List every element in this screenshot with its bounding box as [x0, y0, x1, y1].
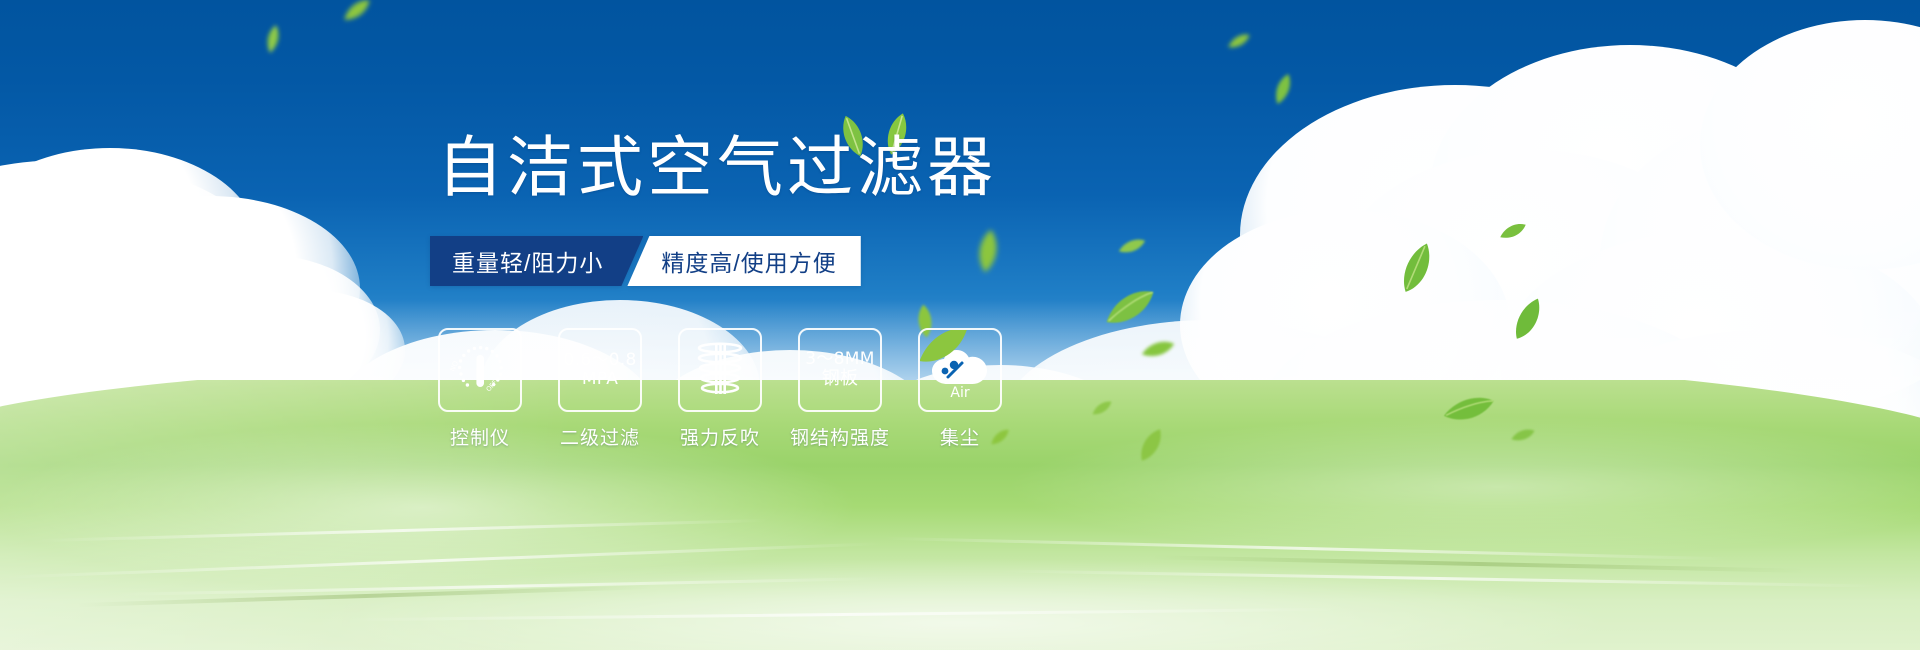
feature-item-steel-strength[interactable]: 3～8MM 钢板 钢结构强度	[798, 328, 882, 450]
svg-text:NO: NO	[449, 359, 461, 373]
subtitle-tabs: 重量轻/阻力小 精度高/使用方便	[430, 236, 861, 286]
pressure-value-line2: MPA	[582, 370, 618, 389]
feature-item-controller[interactable]: NO OFF 控制仪	[438, 328, 522, 450]
subtitle-tab-left[interactable]: 重量轻/阻力小	[430, 236, 643, 286]
blowback-coil-icon	[691, 339, 749, 401]
feature-icon-box: 0.6～0.8 MPA	[558, 328, 642, 412]
air-label: Air	[920, 385, 1000, 401]
feature-item-blowback[interactable]: 强力反吹	[678, 328, 762, 450]
feature-caption: 钢结构强度	[790, 423, 890, 450]
pressure-value-line1: 0.6～0.8	[563, 351, 636, 370]
control-dial-icon: NO OFF	[448, 340, 512, 400]
page-title: 自洁式空气过滤器	[437, 135, 997, 201]
steel-value-line2: 钢板	[822, 369, 859, 389]
feature-icon-box: Air	[918, 328, 1002, 412]
feature-list: NO OFF 控制仪 0.6～0.8 MPA 二级过滤	[438, 328, 1002, 450]
feature-item-two-stage-filter[interactable]: 0.6～0.8 MPA 二级过滤	[558, 328, 642, 450]
feature-caption: 强力反吹	[680, 423, 760, 450]
feature-icon-box: 3～8MM 钢板	[798, 328, 882, 412]
feature-item-dust-collection[interactable]: Air 集尘	[918, 328, 1002, 450]
feature-caption: 二级过滤	[560, 423, 640, 450]
subtitle-tab-right[interactable]: 精度高/使用方便	[627, 236, 860, 286]
steel-value-line1: 3～8MM	[805, 350, 874, 369]
feature-icon-box: NO OFF	[438, 328, 522, 412]
feature-caption: 集尘	[940, 423, 980, 450]
feature-caption: 控制仪	[450, 423, 510, 450]
product-banner: 自洁式空气过滤器 重量轻/阻力小 精度高/使用方便	[0, 0, 1920, 650]
feature-icon-box	[678, 328, 762, 412]
banner-content: 自洁式空气过滤器 重量轻/阻力小 精度高/使用方便	[0, 0, 1920, 650]
